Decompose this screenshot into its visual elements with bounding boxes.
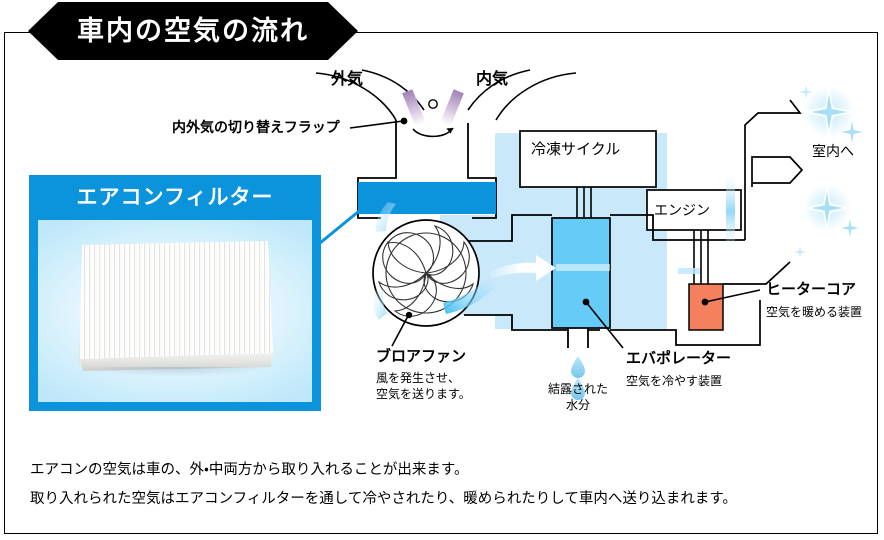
condensate-drain <box>556 328 600 348</box>
caption-block: エアコンの空気は車の、外・中両方から取り入れることが出来ます。 取り入れられた空… <box>30 456 850 514</box>
title-banner: 車内の空気の流れ <box>28 2 358 60</box>
callout-blower-fan-desc1: 風を発生させ、 <box>376 371 460 386</box>
label-outside-air: 外気 <box>331 70 363 90</box>
filter-shadow <box>83 367 269 377</box>
callout-blower-fan-title: ブロアファン <box>376 348 466 366</box>
evaporator-unit <box>552 218 610 328</box>
filter-element-image <box>77 241 273 381</box>
callout-evaporator-desc: 空気を冷やす装置 <box>626 374 722 389</box>
label-refrigeration-cycle: 冷凍サイクル <box>531 141 620 159</box>
label-inside-air: 内気 <box>476 70 508 90</box>
callout-heater-core-title: ヒーターコア <box>766 281 856 299</box>
filter-photo-panel: エアコンフィルター <box>30 176 320 410</box>
filter-pleats <box>77 241 273 365</box>
infographic-root: エアコンフィルター 車内の空気の流れ 外気 内気 内外気の切り替えフラップ 冷凍… <box>0 0 884 540</box>
label-engine: エンジン <box>654 202 710 219</box>
flap-leader-line <box>350 118 407 128</box>
caption-line-2: 取り入れられた空気はエアコンフィルターを通して冷やされたり、暖められたりして車内… <box>30 485 850 514</box>
sparkle-decorations <box>794 84 863 258</box>
callout-condensed-water-desc1: 結露された <box>541 382 615 397</box>
callout-condensed-water-desc2: 水分 <box>541 398 615 413</box>
filter-panel-title: エアコンフィルター <box>30 176 320 216</box>
page-title: 車内の空気の流れ <box>77 18 309 45</box>
label-to-cabin: 室内へ <box>812 143 854 160</box>
filter-photo <box>38 220 312 402</box>
callout-heater-core-desc: 空気を暖める装置 <box>766 305 862 320</box>
label-switch-flap: 内外気の切り替えフラップ <box>172 119 340 136</box>
callout-evaporator-title: エバポレーター <box>626 350 731 368</box>
air-switch-flaps <box>402 89 464 136</box>
caption-line-1: エアコンの空気は車の、外・中両方から取り入れることが出来ます。 <box>30 456 850 485</box>
heater-core-unit <box>689 284 723 330</box>
callout-blower-fan-desc2: 空気を送ります。 <box>376 387 471 402</box>
